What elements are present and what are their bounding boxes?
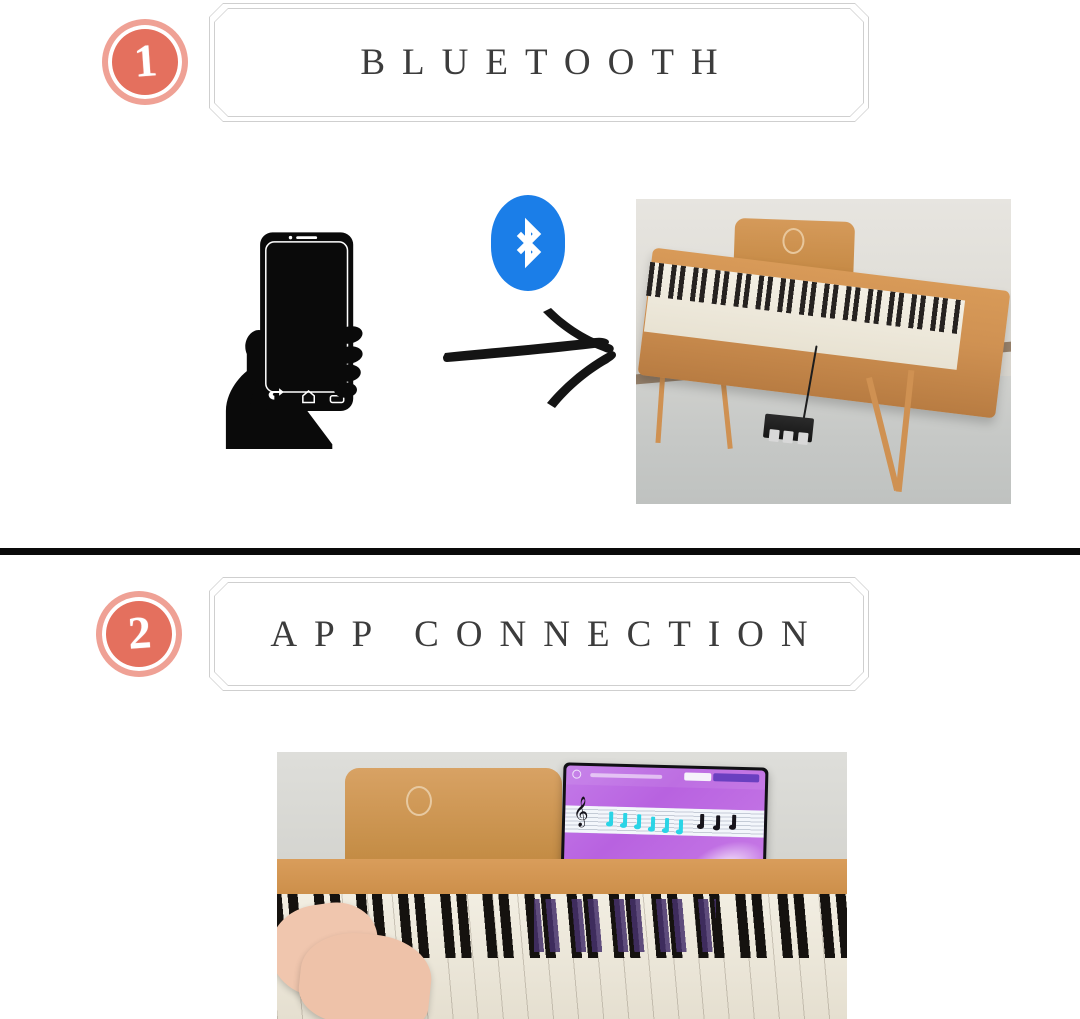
step-badge-1-number: 1 (132, 37, 158, 84)
step-2-title: APP CONNECTION (209, 577, 869, 691)
app-top-bar (566, 766, 766, 790)
step-2-header: 2 APP CONNECTION (0, 575, 1080, 697)
step-badge-2-number: 2 (126, 609, 152, 656)
piano-black-keys-lit (534, 899, 716, 952)
piano-brand-logo (406, 786, 432, 816)
note-played (678, 820, 682, 833)
treble-clef-icon: 𝄞 (573, 799, 589, 825)
hands-playing-piano-with-tablet-app-photo: 𝄞 (277, 752, 847, 1019)
step-1-title-frame: BLUETOOTH (209, 3, 869, 122)
piano-pedal-unit (762, 413, 813, 442)
note-played (637, 814, 641, 827)
arrow-right-icon (443, 308, 623, 413)
section-divider (0, 548, 1080, 555)
note-upcoming (716, 815, 720, 828)
hand-holding-phone-icon (205, 210, 395, 460)
step-2-illustration: 𝄞 (0, 750, 1080, 1019)
step-badge-1: 1 (108, 25, 182, 99)
note-played (623, 813, 627, 826)
app-secondary-button[interactable] (684, 773, 712, 782)
digital-piano-photo (636, 199, 1011, 504)
piano-brand-logo (781, 228, 804, 255)
step-badge-2: 2 (102, 597, 176, 671)
app-primary-button[interactable] (714, 774, 760, 784)
poster-root: 1 BLUETOOTH (0, 0, 1080, 1019)
note-played (609, 811, 613, 824)
step-1-title: BLUETOOTH (209, 3, 869, 122)
note-upcoming (732, 815, 736, 828)
app-menu-icon[interactable] (572, 770, 581, 779)
note-played (664, 819, 668, 832)
bluetooth-icon (491, 195, 565, 291)
app-title-text (590, 774, 662, 779)
step-1-header: 1 BLUETOOTH (0, 0, 1080, 130)
step-2-title-frame: APP CONNECTION (209, 577, 869, 691)
step-1-illustration (0, 190, 1080, 520)
note-played (650, 817, 654, 830)
